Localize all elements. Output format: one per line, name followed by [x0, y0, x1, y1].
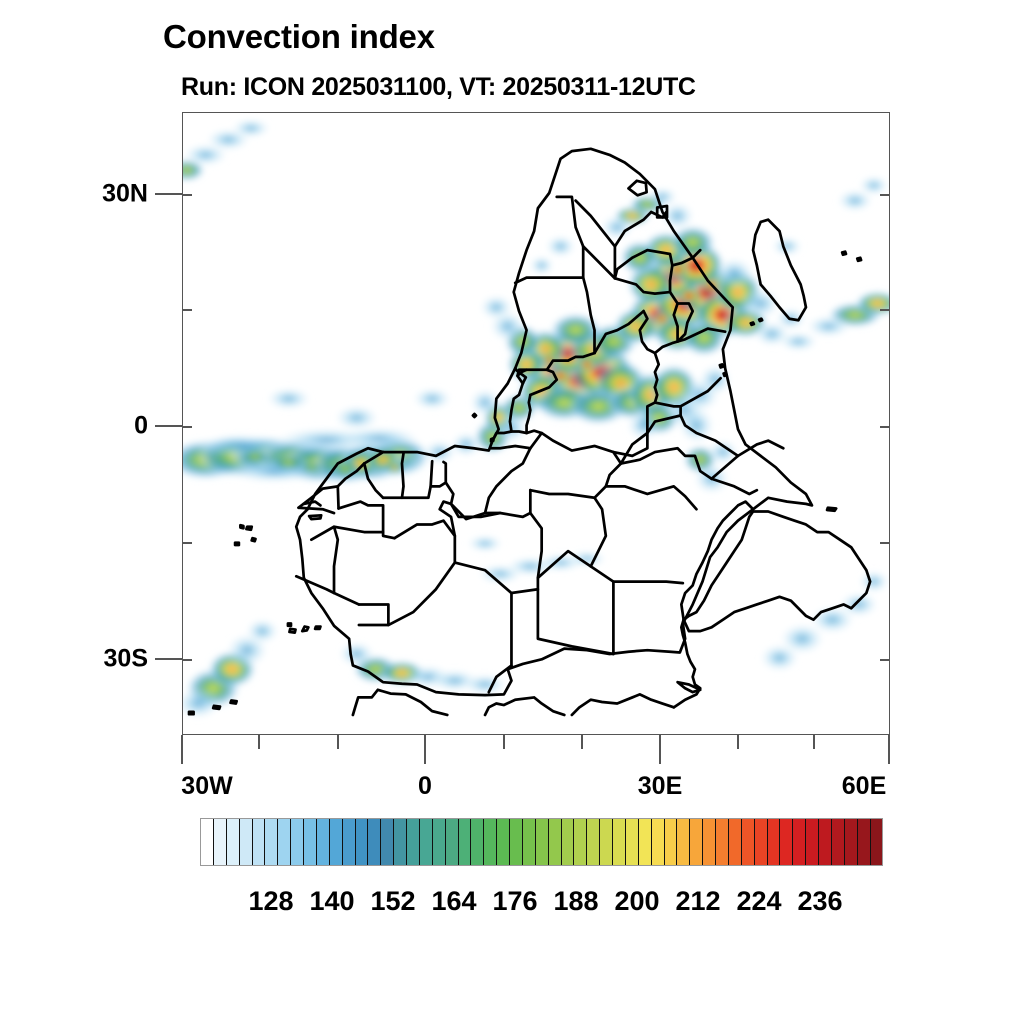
colorbar-label: 128: [248, 886, 293, 917]
plot-tick: [880, 542, 889, 544]
colorbar-swatch: [433, 819, 446, 865]
colorbar-label: 176: [492, 886, 537, 917]
plot-tick: [183, 542, 192, 544]
colorbar-swatch: [858, 819, 871, 865]
colorbar-label: 140: [309, 886, 354, 917]
colorbar-label: 236: [797, 886, 842, 917]
x-major-tick: [888, 735, 890, 764]
colorbar-swatch: [278, 819, 291, 865]
y-major-tick: [155, 658, 182, 660]
y-tick-label-30s: 30S: [60, 645, 148, 674]
colorbar-swatch: [201, 819, 214, 865]
colorbar-swatch: [214, 819, 227, 865]
x-tick-label-60e: 60E: [842, 772, 886, 801]
colorbar-swatch: [871, 819, 883, 865]
colorbar-label: 200: [614, 886, 659, 917]
colorbar-swatch: [420, 819, 433, 865]
colorbar-swatch: [407, 819, 420, 865]
colorbar-swatch: [613, 819, 626, 865]
colorbar-swatch: [665, 819, 678, 865]
colorbar-swatch: [716, 819, 729, 865]
y-major-tick: [155, 425, 182, 427]
x-tick-label-0: 0: [418, 772, 432, 801]
colorbar-swatch: [471, 819, 484, 865]
colorbar-swatch: [729, 819, 742, 865]
colorbar-swatch: [240, 819, 253, 865]
colorbar-swatch: [368, 819, 381, 865]
y-tick-label-0: 0: [60, 412, 148, 441]
colorbar-swatch: [768, 819, 781, 865]
colorbar-swatch: [265, 819, 278, 865]
x-minor-tick: [337, 735, 339, 749]
colorbar-label: 164: [431, 886, 476, 917]
colorbar-swatch: [356, 819, 369, 865]
colorbar-label: 188: [553, 886, 598, 917]
colorbar-swatch: [510, 819, 523, 865]
colorbar-swatch: [845, 819, 858, 865]
colorbar-swatch: [381, 819, 394, 865]
run-valid-time-subtitle: Run: ICON 2025031100, VT: 20250311-12UTC: [181, 73, 696, 102]
plot-tick: [880, 194, 889, 196]
colorbar-swatch: [484, 819, 497, 865]
colorbar-swatch: [793, 819, 806, 865]
x-minor-tick: [813, 735, 815, 749]
plot-tick: [183, 194, 192, 196]
x-minor-tick: [503, 735, 505, 749]
colorbar-swatch: [742, 819, 755, 865]
colorbar[interactable]: [200, 818, 883, 866]
x-tick-label-30w: 30W: [181, 772, 232, 801]
plot-tick: [183, 426, 192, 428]
plot-tick: [183, 309, 192, 311]
colorbar-swatch: [677, 819, 690, 865]
colorbar-swatch: [317, 819, 330, 865]
colorbar-swatch: [330, 819, 343, 865]
colorbar-swatch: [574, 819, 587, 865]
plot-tick: [183, 659, 192, 661]
x-minor-tick: [258, 735, 260, 749]
colorbar-swatch: [291, 819, 304, 865]
colorbar-swatch: [832, 819, 845, 865]
colorbar-swatch: [690, 819, 703, 865]
colorbar-swatch: [780, 819, 793, 865]
colorbar-swatch: [549, 819, 562, 865]
colorbar-label: 224: [736, 886, 781, 917]
x-tick-label-30e: 30E: [638, 772, 682, 801]
x-major-tick: [424, 735, 426, 764]
colorbar-swatch: [253, 819, 266, 865]
page-title: Convection index: [163, 18, 435, 56]
colorbar-label: 212: [675, 886, 720, 917]
colorbar-swatch: [626, 819, 639, 865]
colorbar-swatch: [819, 819, 832, 865]
x-minor-tick: [581, 735, 583, 749]
colorbar-swatch: [523, 819, 536, 865]
colorbar-swatch: [652, 819, 665, 865]
colorbar-swatch: [459, 819, 472, 865]
colorbar-swatch: [394, 819, 407, 865]
colorbar-swatch: [755, 819, 768, 865]
colorbar-swatch: [446, 819, 459, 865]
map-plot-area[interactable]: [182, 112, 890, 735]
y-major-tick: [155, 193, 182, 195]
x-minor-tick: [737, 735, 739, 749]
plot-tick: [880, 309, 889, 311]
colorbar-swatch: [703, 819, 716, 865]
colorbar-swatch: [639, 819, 652, 865]
x-major-tick: [181, 735, 183, 764]
colorbar-swatch: [304, 819, 317, 865]
colorbar-swatch: [536, 819, 549, 865]
plot-tick: [880, 659, 889, 661]
y-tick-label-30n: 30N: [60, 180, 148, 209]
colorbar-swatch: [600, 819, 613, 865]
colorbar-swatch: [497, 819, 510, 865]
plot-tick: [880, 426, 889, 428]
colorbar-swatch: [562, 819, 575, 865]
colorbar-swatch: [343, 819, 356, 865]
map-canvas: [183, 113, 889, 734]
colorbar-swatch: [587, 819, 600, 865]
colorbar-label: 152: [370, 886, 415, 917]
colorbar-swatch: [227, 819, 240, 865]
colorbar-swatch: [806, 819, 819, 865]
x-major-tick: [659, 735, 661, 764]
